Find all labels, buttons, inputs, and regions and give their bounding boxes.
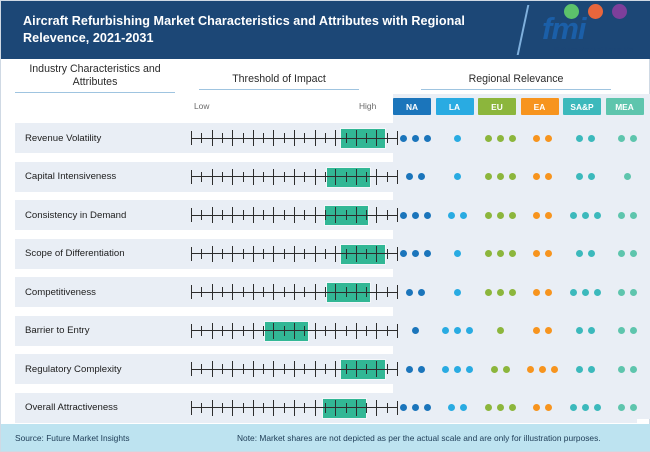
axis-tick <box>273 361 274 377</box>
axis-tick <box>191 401 192 415</box>
relevance-dot <box>576 366 583 373</box>
relevance-dot <box>533 135 540 142</box>
axis-tick <box>212 400 213 416</box>
relevance-dot <box>497 289 504 296</box>
axis-tick <box>335 400 336 416</box>
threshold-scale-3[interactable] <box>187 239 402 269</box>
relevance-cell-saandp-7 <box>563 393 607 423</box>
axis-tick <box>376 400 377 416</box>
axis-tick <box>346 249 347 259</box>
relevance-dot <box>460 404 467 411</box>
relevance-dot <box>442 327 449 334</box>
threshold-highlight-6 <box>341 360 384 379</box>
relevance-dot <box>491 366 498 373</box>
axis-tick <box>284 287 285 297</box>
axis-tick <box>273 207 274 223</box>
axis-tick <box>315 361 316 377</box>
axis-tick <box>315 207 316 223</box>
axis-tick <box>263 403 264 413</box>
axis-tick <box>387 249 388 259</box>
infographic-root: Aircraft Refurbishing Market Characteris… <box>0 0 650 452</box>
relevance-cell-saandp-1 <box>563 162 607 192</box>
axis-tick <box>232 130 233 146</box>
axis-tick <box>335 361 336 377</box>
column-title-threshold: Threshold of Impact <box>199 73 359 90</box>
relevance-cell-mea-7 <box>606 393 650 423</box>
axis-tick <box>253 246 254 262</box>
relevance-dot <box>424 250 431 257</box>
threshold-highlight-3 <box>341 245 384 264</box>
axis-tick <box>191 170 192 184</box>
axis-tick <box>325 287 326 297</box>
axis-tick <box>325 403 326 413</box>
threshold-scale-0[interactable] <box>187 123 402 153</box>
row-label-2: Consistency in Demand <box>25 200 180 230</box>
relevance-cell-eu-1 <box>478 162 522 192</box>
relevance-dot <box>618 289 625 296</box>
axis-tick <box>376 361 377 377</box>
relevance-cell-ea-2 <box>521 200 565 230</box>
relevance-cell-mea-1 <box>606 162 650 192</box>
axis-tick <box>346 287 347 297</box>
axis-tick <box>294 323 295 339</box>
relevance-cell-saandp-6 <box>563 354 607 384</box>
axis-tick <box>294 361 295 377</box>
axis-tick <box>387 172 388 182</box>
axis-tick <box>315 284 316 300</box>
relevance-dot <box>448 212 455 219</box>
axis-tick <box>191 247 192 261</box>
axis-tick <box>346 403 347 413</box>
axis-tick <box>325 249 326 259</box>
relevance-dot <box>630 366 637 373</box>
relevance-dot <box>448 404 455 411</box>
relevance-dot <box>454 250 461 257</box>
axis-tick <box>335 284 336 300</box>
axis-tick <box>263 326 264 336</box>
relevance-dot <box>618 404 625 411</box>
relevance-cell-na-4 <box>393 277 437 307</box>
relevance-dot <box>454 366 461 373</box>
axis-tick <box>325 364 326 374</box>
axis-tick <box>273 284 274 300</box>
axis-tick <box>232 284 233 300</box>
relevance-dot <box>406 173 413 180</box>
axis-tick <box>335 246 336 262</box>
axis-tick <box>366 364 367 374</box>
threshold-highlight-0 <box>341 129 384 148</box>
axis-tick <box>284 210 285 220</box>
axis-tick <box>222 364 223 374</box>
relevance-dot <box>418 366 425 373</box>
axis-tick <box>222 287 223 297</box>
axis-tick <box>263 249 264 259</box>
axis-tick <box>253 400 254 416</box>
region-header-la[interactable]: LA <box>436 98 474 115</box>
axis-tick <box>232 246 233 262</box>
relevance-cell-saandp-2 <box>563 200 607 230</box>
relevance-cell-eu-5 <box>478 316 522 346</box>
relevance-dot <box>551 366 558 373</box>
axis-tick <box>356 246 357 262</box>
relevance-dot <box>545 327 552 334</box>
threshold-highlight-5 <box>265 322 308 341</box>
relevance-dot <box>576 327 583 334</box>
threshold-scale-4[interactable] <box>187 277 402 307</box>
relevance-cell-ea-5 <box>521 316 565 346</box>
axis-tick <box>376 130 377 146</box>
relevance-cell-la-7 <box>436 393 480 423</box>
axis-tick <box>376 323 377 339</box>
axis-tick <box>263 210 264 220</box>
axis-tick <box>376 169 377 185</box>
relevance-dot <box>400 250 407 257</box>
axis-tick <box>387 210 388 220</box>
relevance-cell-na-2 <box>393 200 437 230</box>
relevance-dot <box>630 327 637 334</box>
relevance-dot <box>545 135 552 142</box>
relevance-dot <box>588 173 595 180</box>
relevance-dot <box>424 404 431 411</box>
axis-tick <box>243 210 244 220</box>
axis-tick <box>222 249 223 259</box>
relevance-cell-saandp-4 <box>563 277 607 307</box>
relevance-dot <box>485 289 492 296</box>
footer-note: Note: Market shares are not depicted as … <box>237 433 601 443</box>
relevance-dot <box>485 404 492 411</box>
relevance-dot <box>588 327 595 334</box>
relevance-dot <box>406 289 413 296</box>
footer-source: Source: Future Market Insights <box>15 433 130 443</box>
relevance-cell-la-2 <box>436 200 480 230</box>
axis-tick <box>243 326 244 336</box>
axis-tick <box>253 130 254 146</box>
row-label-1: Capital Intensiveness <box>25 162 180 192</box>
relevance-dot <box>545 289 552 296</box>
axis-tick <box>335 130 336 146</box>
axis-tick <box>335 207 336 223</box>
axis-tick <box>243 287 244 297</box>
axis-tick <box>212 207 213 223</box>
axis-tick <box>315 246 316 262</box>
relevance-dot <box>466 366 473 373</box>
axis-tick <box>294 169 295 185</box>
axis-tick <box>284 133 285 143</box>
axis-tick <box>304 133 305 143</box>
axis-tick <box>284 403 285 413</box>
relevance-dot <box>400 404 407 411</box>
relevance-cell-saandp-5 <box>563 316 607 346</box>
relevance-dot <box>412 135 419 142</box>
relevance-cell-mea-3 <box>606 239 650 269</box>
axis-tick <box>387 326 388 336</box>
relevance-cell-mea-2 <box>606 200 650 230</box>
axis-tick <box>356 130 357 146</box>
relevance-dot <box>454 135 461 142</box>
axis-tick <box>222 172 223 182</box>
axis-tick <box>243 249 244 259</box>
axis-tick <box>222 403 223 413</box>
axis-tick <box>356 400 357 416</box>
relevance-cell-na-7 <box>393 393 437 423</box>
relevance-dot <box>533 327 540 334</box>
row-label-5: Barrier to Entry <box>25 316 180 346</box>
axis-tick <box>273 130 274 146</box>
relevance-dot <box>630 212 637 219</box>
axis-tick <box>346 172 347 182</box>
axis-tick <box>253 361 254 377</box>
axis-tick <box>366 326 367 336</box>
relevance-dot <box>485 212 492 219</box>
axis-tick <box>263 172 264 182</box>
relevance-dot <box>412 404 419 411</box>
relevance-dot <box>509 289 516 296</box>
axis-tick <box>232 169 233 185</box>
axis-tick <box>304 364 305 374</box>
axis-tick <box>243 364 244 374</box>
column-title-regional: Regional Relevance <box>421 73 611 90</box>
relevance-dot <box>588 135 595 142</box>
axis-tick <box>273 323 274 339</box>
relevance-dot <box>594 404 601 411</box>
relevance-dot <box>570 404 577 411</box>
axis-tick <box>315 323 316 339</box>
relevance-dot <box>454 327 461 334</box>
scale-label-high: High <box>359 101 376 111</box>
relevance-dot <box>497 404 504 411</box>
axis-tick <box>232 207 233 223</box>
axis-tick <box>304 210 305 220</box>
relevance-dot <box>582 212 589 219</box>
relevance-dot <box>582 404 589 411</box>
axis-tick <box>212 284 213 300</box>
threshold-highlight-2 <box>325 206 368 225</box>
axis-tick <box>366 210 367 220</box>
relevance-dot <box>533 289 540 296</box>
axis-tick <box>325 210 326 220</box>
footer-bar: Source: Future Market Insights Note: Mar… <box>1 424 650 451</box>
axis-tick <box>191 208 192 222</box>
axis-tick <box>263 364 264 374</box>
axis-tick <box>253 323 254 339</box>
relevance-cell-la-6 <box>436 354 480 384</box>
axis-tick <box>232 400 233 416</box>
relevance-dot <box>485 250 492 257</box>
relevance-dot <box>588 250 595 257</box>
relevance-cell-na-1 <box>393 162 437 192</box>
axis-tick <box>201 403 202 413</box>
threshold-scale-6[interactable] <box>187 354 402 384</box>
axis-tick <box>304 172 305 182</box>
relevance-dot <box>509 404 516 411</box>
threshold-scale-1[interactable] <box>187 162 402 192</box>
axis-tick <box>232 323 233 339</box>
region-header-ea[interactable]: EA <box>521 98 559 115</box>
axis-tick <box>315 400 316 416</box>
relevance-cell-ea-0 <box>521 123 565 153</box>
axis-tick <box>346 326 347 336</box>
relevance-dot <box>630 404 637 411</box>
axis-tick <box>273 400 274 416</box>
axis-tick <box>335 169 336 185</box>
axis-tick <box>201 364 202 374</box>
relevance-dot <box>618 366 625 373</box>
axis-tick <box>191 324 192 338</box>
axis-tick <box>191 285 192 299</box>
axis-tick <box>294 130 295 146</box>
axis-tick <box>191 362 192 376</box>
row-label-3: Scope of Differentiation <box>25 239 180 269</box>
relevance-cell-la-1 <box>436 162 480 192</box>
relevance-dot <box>454 173 461 180</box>
relevance-cell-eu-0 <box>478 123 522 153</box>
relevance-dot <box>509 173 516 180</box>
relevance-dot <box>618 250 625 257</box>
region-header-mea[interactable]: MEA <box>606 98 644 115</box>
relevance-cell-ea-6 <box>521 354 565 384</box>
relevance-cell-na-3 <box>393 239 437 269</box>
relevance-dot <box>545 173 552 180</box>
relevance-dot <box>588 366 595 373</box>
column-title-attributes: Industry Characteristics and Attributes <box>15 63 175 93</box>
axis-tick <box>315 130 316 146</box>
relevance-cell-na-6 <box>393 354 437 384</box>
relevance-cell-eu-3 <box>478 239 522 269</box>
axis-tick <box>263 287 264 297</box>
axis-tick <box>346 210 347 220</box>
relevance-cell-ea-7 <box>521 393 565 423</box>
axis-tick <box>222 133 223 143</box>
region-header-saandp[interactable]: SA&P <box>563 98 601 115</box>
axis-tick <box>232 361 233 377</box>
relevance-cell-eu-4 <box>478 277 522 307</box>
axis-tick <box>201 287 202 297</box>
axis-tick <box>376 207 377 223</box>
relevance-dot <box>533 212 540 219</box>
row-label-7: Overall Attractiveness <box>25 393 180 423</box>
axis-tick <box>201 172 202 182</box>
relevance-dot <box>624 173 631 180</box>
axis-tick <box>325 172 326 182</box>
relevance-cell-ea-1 <box>521 162 565 192</box>
relevance-dot <box>418 289 425 296</box>
axis-tick <box>366 403 367 413</box>
axis-tick <box>294 246 295 262</box>
axis-tick <box>253 207 254 223</box>
axis-tick <box>356 323 357 339</box>
axis-tick <box>294 400 295 416</box>
relevance-dot <box>497 173 504 180</box>
axis-tick <box>243 403 244 413</box>
axis-tick <box>253 169 254 185</box>
axis-tick <box>212 246 213 262</box>
relevance-dot <box>485 135 492 142</box>
relevance-cell-la-3 <box>436 239 480 269</box>
relevance-dot <box>497 135 504 142</box>
axis-tick <box>376 284 377 300</box>
relevance-dot <box>418 173 425 180</box>
axis-tick <box>387 364 388 374</box>
scale-label-low: Low <box>194 101 209 111</box>
axis-tick <box>304 326 305 336</box>
axis-tick <box>304 287 305 297</box>
relevance-dot <box>576 135 583 142</box>
axis-tick <box>294 284 295 300</box>
relevance-dot <box>400 135 407 142</box>
relevance-dot <box>618 135 625 142</box>
relevance-dot <box>424 212 431 219</box>
row-label-4: Competitiveness <box>25 277 180 307</box>
axis-tick <box>222 326 223 336</box>
relevance-cell-ea-4 <box>521 277 565 307</box>
relevance-dot <box>509 212 516 219</box>
axis-tick <box>212 169 213 185</box>
axis-tick <box>284 249 285 259</box>
relevance-dot <box>576 173 583 180</box>
logo-wordmark: fmi <box>542 12 648 45</box>
axis-tick <box>304 249 305 259</box>
relevance-cell-la-0 <box>436 123 480 153</box>
threshold-highlight-1 <box>327 168 370 187</box>
relevance-cell-ea-3 <box>521 239 565 269</box>
threshold-scale-2[interactable] <box>187 200 402 230</box>
relevance-cell-mea-6 <box>606 354 650 384</box>
relevance-dot <box>545 250 552 257</box>
relevance-dot <box>400 212 407 219</box>
relevance-dot <box>497 250 504 257</box>
relevance-dot <box>406 366 413 373</box>
axis-tick <box>387 133 388 143</box>
relevance-dot <box>545 212 552 219</box>
relevance-dot <box>594 289 601 296</box>
axis-tick <box>346 364 347 374</box>
axis-tick <box>222 210 223 220</box>
axis-tick <box>325 133 326 143</box>
relevance-cell-na-0 <box>393 123 437 153</box>
axis-tick <box>253 284 254 300</box>
axis-tick <box>263 133 264 143</box>
relevance-cell-la-5 <box>436 316 480 346</box>
row-label-0: Revenue Volatility <box>25 123 180 153</box>
axis-tick <box>212 361 213 377</box>
fmi-logo: fmi Future Market Insights <box>536 4 648 56</box>
region-header-eu[interactable]: EU <box>478 98 516 115</box>
axis-tick <box>356 169 357 185</box>
relevance-dot <box>545 404 552 411</box>
axis-tick <box>284 326 285 336</box>
threshold-highlight-4 <box>327 283 370 302</box>
axis-tick <box>346 133 347 143</box>
relevance-dot <box>509 135 516 142</box>
relevance-dot <box>576 250 583 257</box>
axis-tick <box>201 133 202 143</box>
relevance-dot <box>630 289 637 296</box>
axis-tick <box>387 403 388 413</box>
relevance-dot <box>497 212 504 219</box>
axis-tick <box>201 326 202 336</box>
axis-tick <box>387 287 388 297</box>
relevance-dot <box>630 250 637 257</box>
threshold-scale-7[interactable] <box>187 393 402 423</box>
region-header-na[interactable]: NA <box>393 98 431 115</box>
relevance-cell-mea-0 <box>606 123 650 153</box>
threshold-scale-5[interactable] <box>187 316 402 346</box>
axis-tick <box>212 323 213 339</box>
header-divider <box>517 5 530 55</box>
relevance-dot <box>503 366 510 373</box>
row-label-6: Regulatory Complexity <box>25 354 180 384</box>
axis-tick <box>366 172 367 182</box>
